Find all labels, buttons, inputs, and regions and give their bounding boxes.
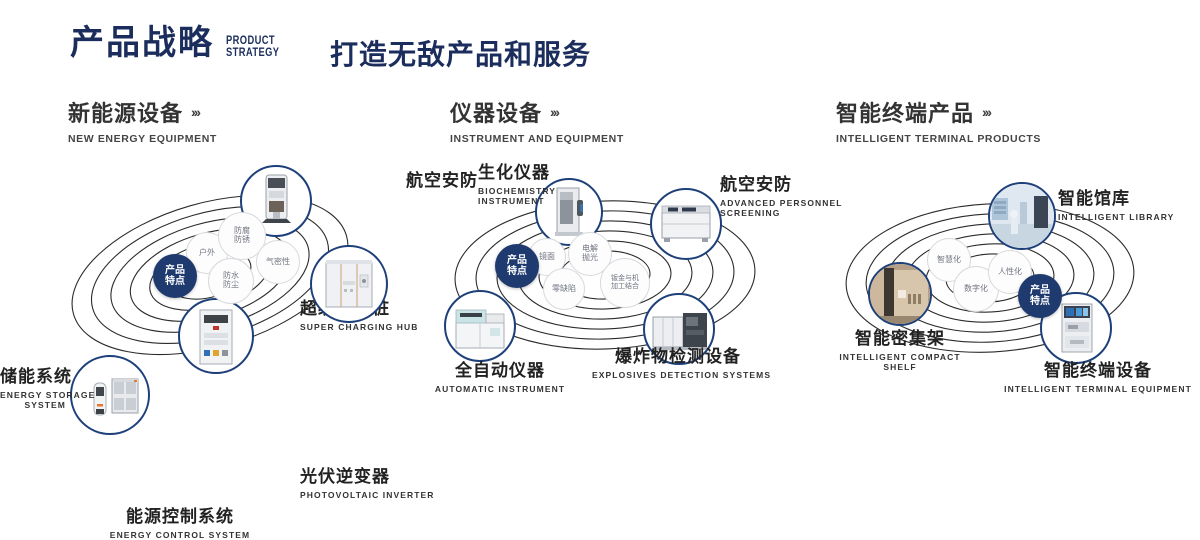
section-title-cn: 仪器设备 [450,96,542,128]
header-subtitle: 打造无敌产品和服务 [330,33,591,73]
control-cabinet-icon [180,300,252,372]
product-name-en: INTELLIGENT LIBRARY [1058,212,1174,223]
feature-bubble-text: 电解抛光 [580,245,600,263]
feature-bubble-airtight: 气密性 [256,240,300,284]
chevron-right-icon: ››› [982,104,990,120]
feature-bubble-text: 防水防尘 [220,272,242,290]
chevron-right-icon: ››› [550,104,558,120]
product-name-cn: 智能终端设备 [998,362,1198,382]
product-label-biochemistry: 生化仪器 BIOCHEMISTRY INSTRUMENT [478,164,562,207]
product-name-en-line2: INSTRUMENT [478,196,562,207]
product-label-energy-storage: 储能系统 ENERGY STORAGE SYSTEM [0,368,66,411]
product-name-cn: 储能系统 [0,368,66,388]
product-circle-control-cabinet[interactable] [178,298,254,374]
product-label-aviation-security-left: 航空安防 [400,172,478,192]
section-title-en: NEW ENERGY EQUIPMENT [68,133,217,145]
product-name-en: INTELLIGENT TERMINAL EQUIPMENT [998,384,1198,395]
product-label-terminal-kiosk: 智能终端设备 INTELLIGENT TERMINAL EQUIPMENT [998,362,1198,394]
poster-canvas: 产品战略 PRODUCT STRATEGY 打造无敌产品和服务 新能源设备›››… [0,0,1200,422]
product-name-cn: 智能密集架 [820,330,980,350]
product-name-cn: 能源控制系统 [60,508,300,528]
automatic-instrument-icon [446,292,514,360]
product-features-badge[interactable]: 产品 特点 [495,244,539,288]
product-circle-screening[interactable] [650,188,722,260]
product-circle-intelligent-library[interactable] [988,182,1056,250]
product-circle-compact-shelf[interactable] [868,262,932,326]
cluster-intelligent-terminal: 智能馆库 INTELLIGENT LIBRARY 智能密集架 INTELL [790,150,1200,400]
product-name-en: ENERGY CONTROL SYSTEM [60,530,300,540]
product-label-control-cabinet: 能源控制系统 ENERGY CONTROL SYSTEM [60,508,300,540]
badge-line1: 产品 [1030,285,1050,296]
poster-header: 产品战略 PRODUCT STRATEGY [70,26,294,60]
product-name-cn: 光伏逆变器 [300,468,435,488]
product-features-badge[interactable]: 产品 特点 [1018,274,1062,318]
header-title-en-line2: STRATEGY [226,46,279,58]
product-name-en-line1: INTELLIGENT COMPACT [820,352,980,363]
header-title-en: PRODUCT STRATEGY [226,34,279,58]
product-label-pv-inverter: 光伏逆变器 PHOTOVOLTAIC INVERTER [300,468,435,500]
chevron-right-icon: ››› [191,104,199,120]
section-title-en: INTELLIGENT TERMINAL PRODUCTS [836,133,1041,145]
product-label-explosives-detector: 爆炸物检测设备 EXPLOSIVES DETECTION SYSTEMS [592,348,764,380]
badge-line1: 产品 [165,265,185,276]
product-label-intelligent-library: 智能馆库 INTELLIGENT LIBRARY [1058,190,1174,222]
feature-bubble-sheetmetal-machining: 钣金与机加工结合 [600,258,650,308]
badge-line2: 特点 [1030,296,1050,307]
badge-line2: 特点 [507,266,527,277]
product-name-en-line2: SYSTEM [0,400,66,411]
feature-bubble-zero-defect: 零缺陷 [543,268,585,310]
section-heading-instrument: 仪器设备››› INSTRUMENT AND EQUIPMENT [450,96,624,145]
badge-line1: 产品 [507,255,527,266]
product-name-en-line2: SHELF [820,362,980,373]
feature-bubble-text: 防腐防锈 [231,227,253,245]
screening-machine-icon [652,190,720,258]
product-name-cn: 爆炸物检测设备 [592,348,764,368]
product-name-cn: 生化仪器 [478,164,562,184]
product-name-en: PHOTOVOLTAIC INVERTER [300,490,435,501]
product-circle-pv-inverter[interactable] [310,245,388,323]
product-name-cn: 航空安防 [400,172,478,192]
product-name-cn: 智能馆库 [1058,190,1174,210]
compact-shelf-icon [870,264,930,324]
product-features-badge[interactable]: 产品 特点 [153,254,197,298]
section-title-en: INSTRUMENT AND EQUIPMENT [450,133,624,145]
product-name-en-line1: ENERGY STORAGE [0,390,66,401]
section-title-cn: 智能终端产品 [836,96,974,128]
product-label-automatic-instrument: 全自动仪器 AUTOMATIC INSTRUMENT [420,362,580,394]
pv-inverter-icon [312,247,386,321]
badge-line2: 特点 [165,276,185,287]
library-room-icon [990,184,1054,248]
header-title-cn: 产品战略 [70,26,214,60]
product-circle-automatic-instrument[interactable] [444,290,516,362]
product-name-en: EXPLOSIVES DETECTION SYSTEMS [592,370,764,381]
feature-bubble-text: 钣金与机加工结合 [611,275,639,291]
product-label-compact-shelf: 智能密集架 INTELLIGENT COMPACT SHELF [820,330,980,373]
section-heading-new-energy: 新能源设备››› NEW ENERGY EQUIPMENT [68,96,217,145]
cluster-instrument: 航空安防 生化仪器 BIOCHEMISTRY INSTRUMENT [400,150,820,395]
feature-bubble-waterproof: 防水防尘 [208,258,254,304]
section-title-cn: 新能源设备 [68,96,183,128]
product-name-cn: 全自动仪器 [420,362,580,382]
product-name-en: AUTOMATIC INSTRUMENT [420,384,580,395]
cluster-new-energy: 储能系统 ENERGY STORAGE SYSTEM 超级充电桩 SUPER C… [0,150,420,390]
product-name-en-line1: BIOCHEMISTRY [478,186,562,197]
section-heading-intelligent: 智能终端产品››› INTELLIGENT TERMINAL PRODUCTS [836,96,1041,145]
